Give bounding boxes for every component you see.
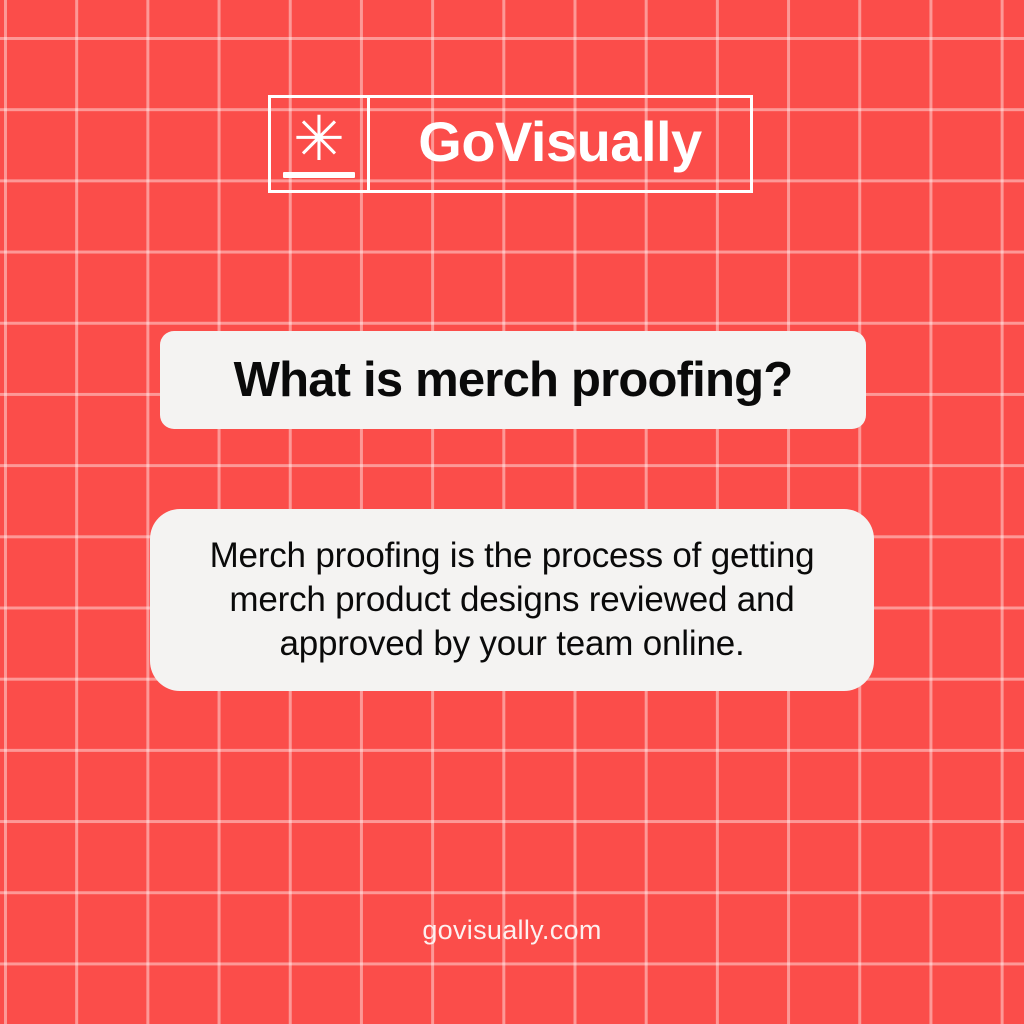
logo-wordmark-text: GoVisually: [418, 114, 701, 170]
logo-lockup: ✳ GoVisually: [268, 95, 753, 193]
logo-mark-cell: ✳: [271, 98, 370, 190]
logo-wordmark-cell: GoVisually: [370, 98, 750, 190]
body-card: Merch proofing is the process of getting…: [150, 509, 874, 691]
body-text-line: Merch proofing is the process of getting: [210, 534, 815, 578]
body-text-line: approved by your team online.: [210, 622, 815, 666]
footer: govisually.com: [0, 915, 1024, 946]
body-text: Merch proofing is the process of getting…: [210, 534, 815, 666]
social-post-canvas: ✳ GoVisually What is merch proofing? Mer…: [0, 0, 1024, 1024]
asterisk-icon: ✳: [271, 108, 367, 170]
body-text-line: merch product designs reviewed and: [210, 578, 815, 622]
website-url: govisually.com: [422, 915, 601, 945]
headline-text: What is merch proofing?: [234, 356, 793, 405]
logo-underline-bar: [283, 172, 355, 178]
headline-card: What is merch proofing?: [160, 331, 866, 429]
